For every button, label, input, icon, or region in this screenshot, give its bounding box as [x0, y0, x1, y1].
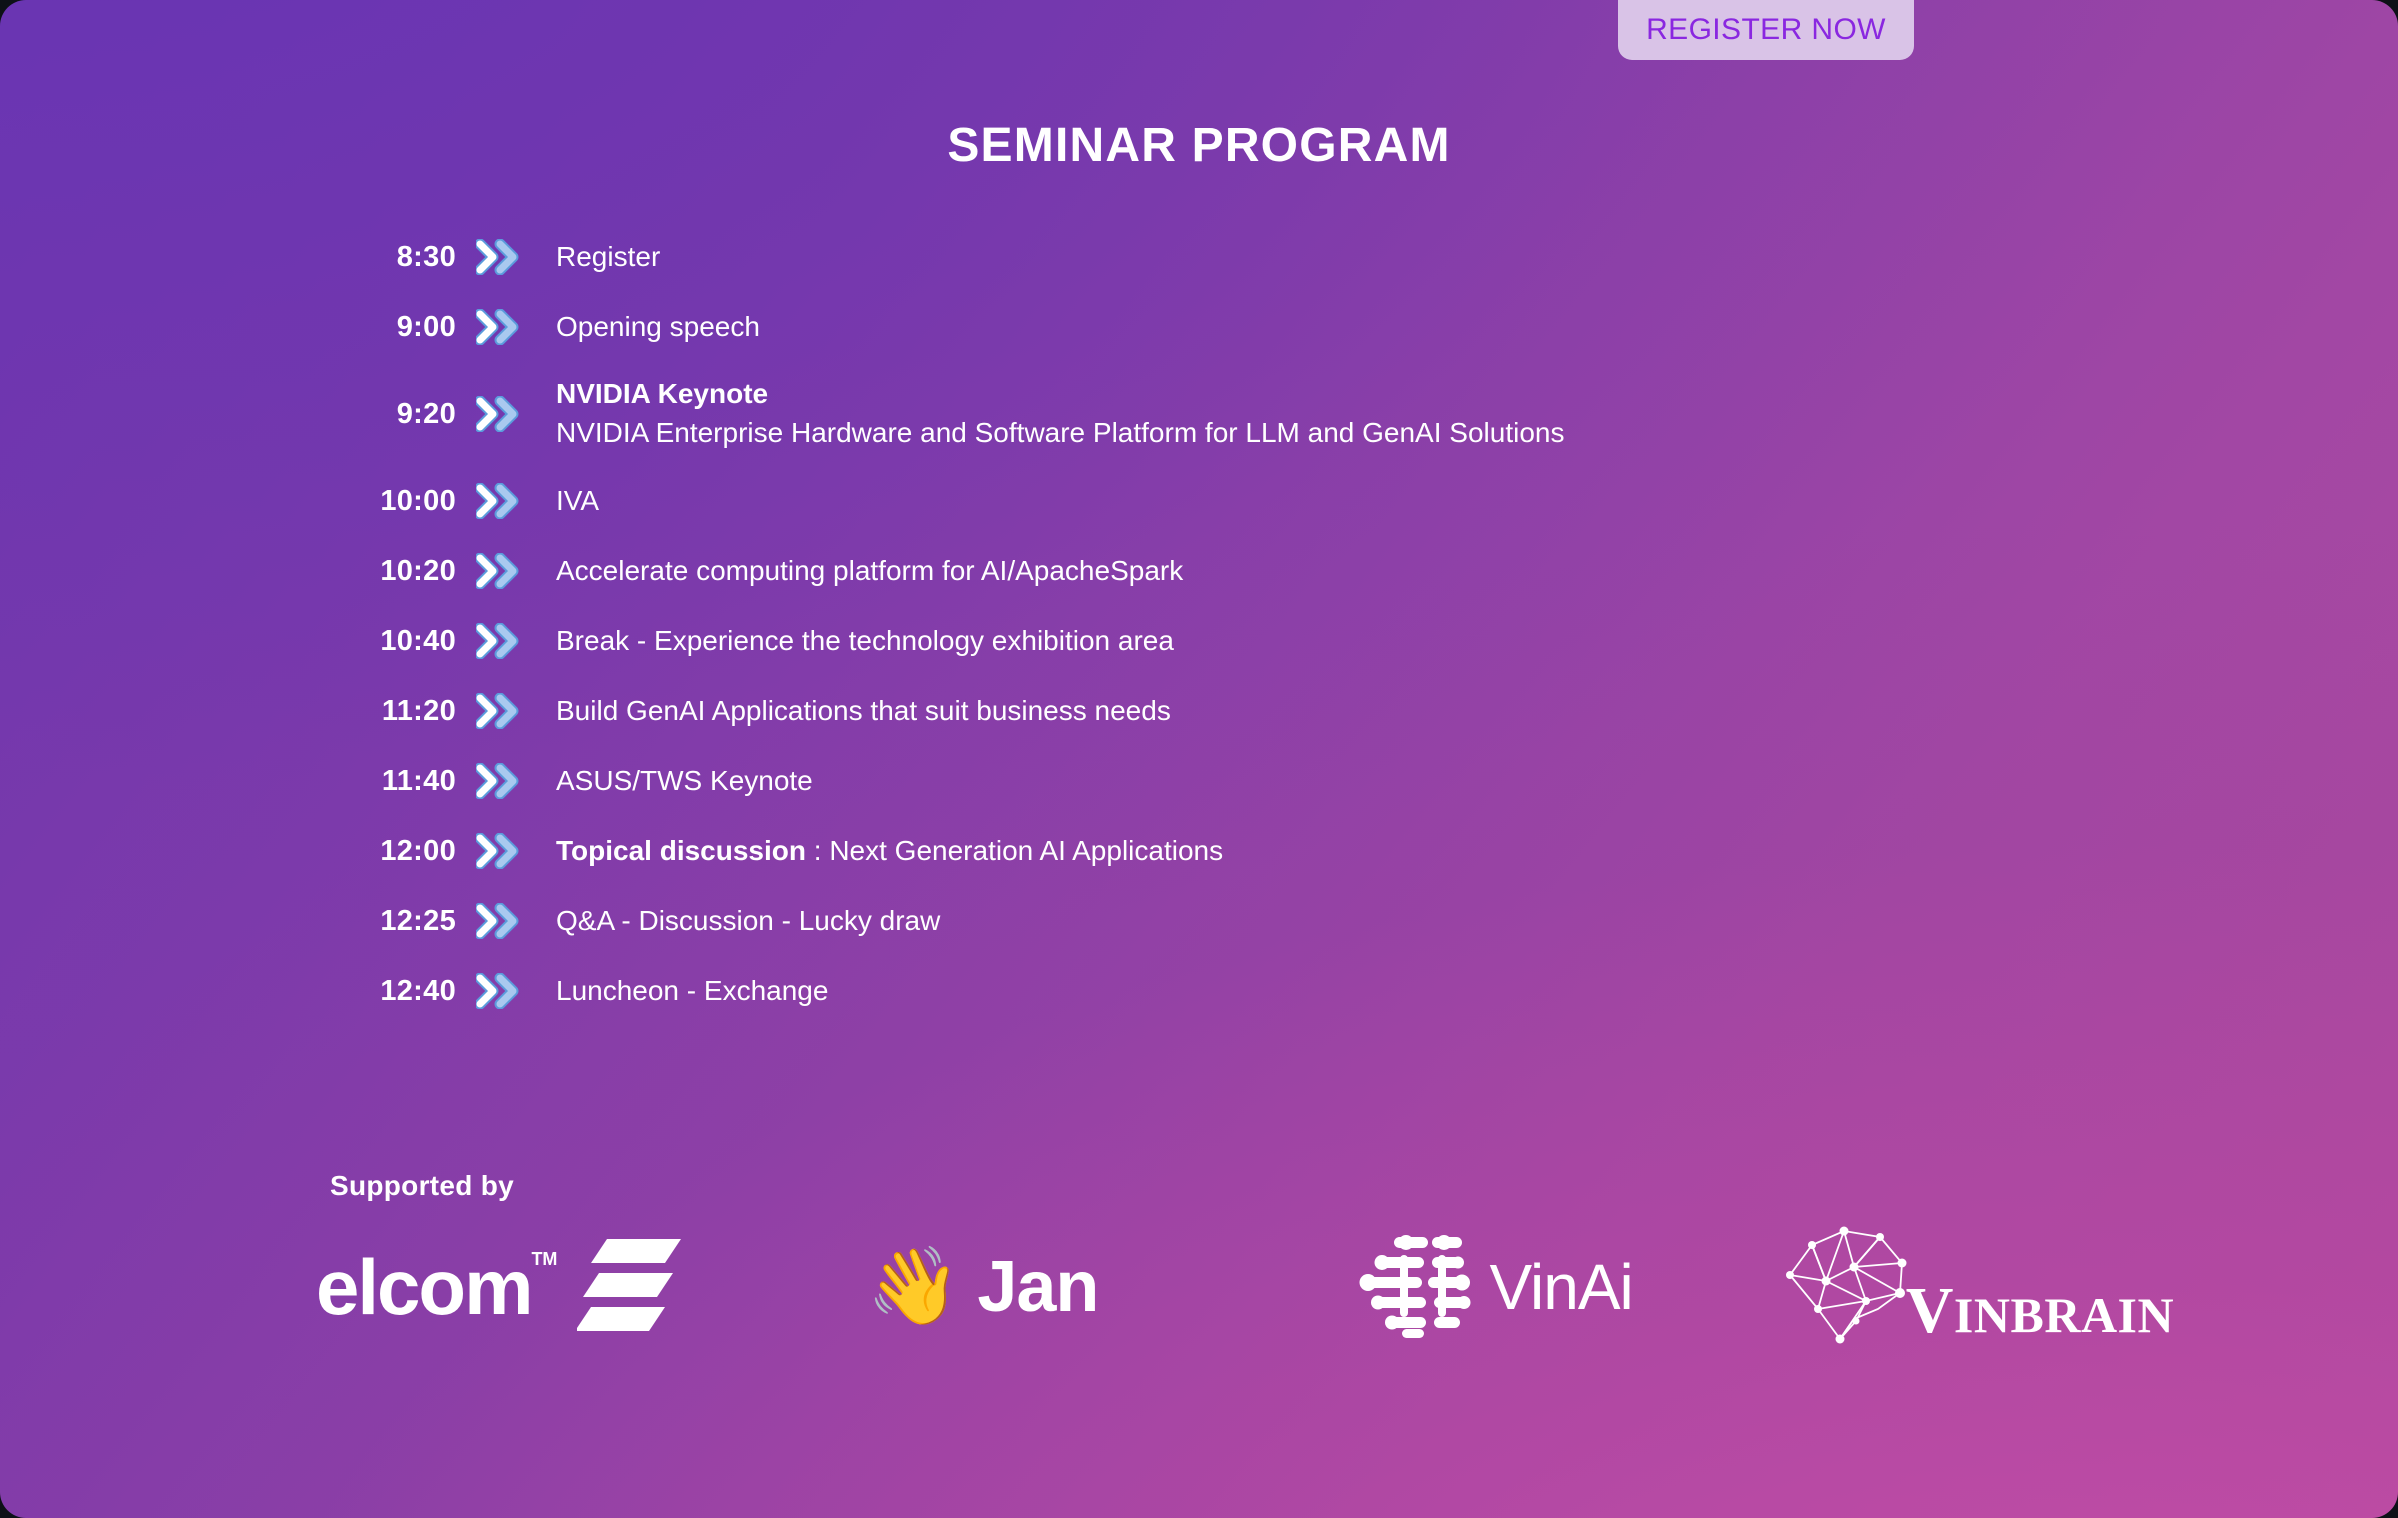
- schedule-description-text: : Next Generation AI Applications: [806, 835, 1223, 866]
- schedule-description: Topical discussion : Next Generation AI …: [542, 832, 2230, 871]
- schedule-description-text: Luncheon - Exchange: [556, 975, 828, 1006]
- vinbrain-wordmark: VINBRAIN: [1906, 1278, 2174, 1344]
- double-chevron-icon: [456, 693, 542, 729]
- schedule-description-lead: Topical discussion: [556, 835, 806, 866]
- sponsor-logo-vinai: VinAi: [1330, 1222, 1772, 1352]
- double-chevron-icon: [456, 396, 542, 432]
- page-title: SEMINAR PROGRAM: [0, 118, 2398, 173]
- schedule-description: Build GenAI Applications that suit busin…: [542, 692, 2230, 731]
- schedule-time: 12:00: [330, 835, 456, 868]
- schedule-time: 11:40: [330, 765, 456, 798]
- supported-by-label: Supported by: [330, 1170, 514, 1202]
- schedule-description-text: IVA: [556, 485, 599, 516]
- schedule-row: 12:00Topical discussion : Next Generatio…: [330, 816, 2230, 886]
- elcom-trademark-icon: TM: [531, 1250, 557, 1268]
- schedule-description-text: Register: [556, 241, 660, 272]
- double-chevron-icon: [456, 763, 542, 799]
- seminar-program-page: REGISTER NOW SEMINAR PROGRAM 8:30Registe…: [0, 0, 2398, 1518]
- schedule-description-text: Q&A - Discussion - Lucky draw: [556, 905, 940, 936]
- schedule-time: 9:20: [330, 398, 456, 431]
- schedule-description: Opening speech: [542, 308, 2230, 347]
- double-chevron-icon: [456, 239, 542, 275]
- schedule-description: Register: [542, 238, 2230, 277]
- double-chevron-icon: [456, 973, 542, 1009]
- double-chevron-icon: [456, 483, 542, 519]
- schedule-description-sub: NVIDIA Enterprise Hardware and Software …: [556, 414, 2230, 453]
- schedule-description: Q&A - Discussion - Lucky draw: [542, 902, 2230, 941]
- elcom-e-mark-icon: [577, 1239, 681, 1336]
- sponsor-logo-vinbrain: VINBRAIN: [1772, 1222, 2206, 1352]
- schedule-time: 12:25: [330, 905, 456, 938]
- schedule-time: 10:40: [330, 625, 456, 658]
- schedule-description-text: Break - Experience the technology exhibi…: [556, 625, 1174, 656]
- vinbrain-rest: INBRAIN: [1954, 1287, 2174, 1343]
- schedule-time: 8:30: [330, 241, 456, 274]
- waving-hand-icon: 👋: [867, 1249, 962, 1325]
- schedule-description: Break - Experience the technology exhibi…: [542, 622, 2230, 661]
- schedule-description: Accelerate computing platform for AI/Apa…: [542, 552, 2230, 591]
- schedule-description: Luncheon - Exchange: [542, 972, 2230, 1011]
- double-chevron-icon: [456, 623, 542, 659]
- elcom-wordmark: elcom TM: [316, 1248, 531, 1326]
- double-chevron-icon: [456, 833, 542, 869]
- sponsor-logo-jan: 👋 Jan: [837, 1222, 1330, 1352]
- schedule-description: IVA: [542, 482, 2230, 521]
- schedule-list: 8:30Register9:00Opening speech9:20NVIDIA…: [330, 222, 2230, 1026]
- elcom-word-text: elcom: [316, 1243, 531, 1331]
- schedule-row: 9:00Opening speech: [330, 292, 2230, 362]
- schedule-time: 11:20: [330, 695, 456, 728]
- schedule-description: ASUS/TWS Keynote: [542, 762, 2230, 801]
- schedule-description-text: Opening speech: [556, 311, 760, 342]
- schedule-time: 12:40: [330, 975, 456, 1008]
- schedule-row: 11:20Build GenAI Applications that suit …: [330, 676, 2230, 746]
- sponsor-logo-strip: elcom TM 👋 Jan: [306, 1222, 2206, 1352]
- vinai-wordmark: VinAi: [1490, 1255, 1633, 1319]
- schedule-description-text: Accelerate computing platform for AI/Apa…: [556, 555, 1183, 586]
- schedule-description-text: ASUS/TWS Keynote: [556, 765, 813, 796]
- vinbrain-initial: V: [1906, 1274, 1954, 1347]
- schedule-row: 11:40ASUS/TWS Keynote: [330, 746, 2230, 816]
- schedule-description-text: Build GenAI Applications that suit busin…: [556, 695, 1171, 726]
- vinai-circuit-icon: [1348, 1231, 1476, 1344]
- schedule-row: 12:40Luncheon - Exchange: [330, 956, 2230, 1026]
- jan-wordmark: Jan: [977, 1251, 1098, 1323]
- schedule-row: 10:40Break - Experience the technology e…: [330, 606, 2230, 676]
- schedule-description-lead: NVIDIA Keynote: [556, 378, 768, 409]
- schedule-row: 10:00IVA: [330, 466, 2230, 536]
- schedule-row: 8:30Register: [330, 222, 2230, 292]
- schedule-time: 9:00: [330, 311, 456, 344]
- double-chevron-icon: [456, 903, 542, 939]
- double-chevron-icon: [456, 309, 542, 345]
- schedule-row: 12:25Q&A - Discussion - Lucky draw: [330, 886, 2230, 956]
- schedule-row: 9:20NVIDIA KeynoteNVIDIA Enterprise Hard…: [330, 362, 2230, 466]
- schedule-description: NVIDIA KeynoteNVIDIA Enterprise Hardware…: [542, 375, 2230, 452]
- schedule-time: 10:20: [330, 555, 456, 588]
- sponsor-logo-elcom: elcom TM: [306, 1222, 837, 1352]
- schedule-row: 10:20Accelerate computing platform for A…: [330, 536, 2230, 606]
- schedule-time: 10:00: [330, 485, 456, 518]
- double-chevron-icon: [456, 553, 542, 589]
- register-now-button[interactable]: REGISTER NOW: [1618, 0, 1914, 60]
